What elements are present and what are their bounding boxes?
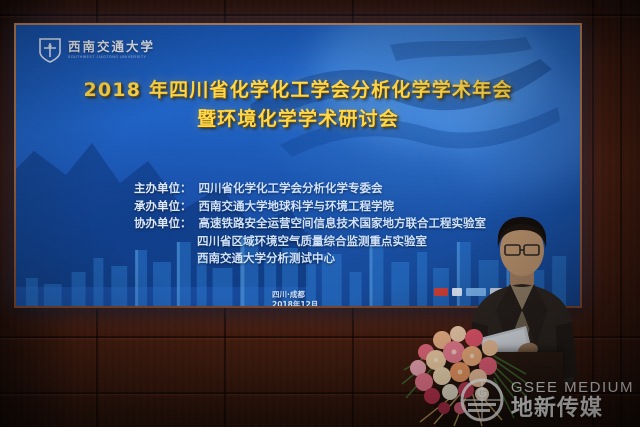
image-vignette [0,0,640,427]
screenshot-stage: 西南交通大学 SOUTHWEST JIAOTONG UNIVERSITY 201… [0,0,640,427]
